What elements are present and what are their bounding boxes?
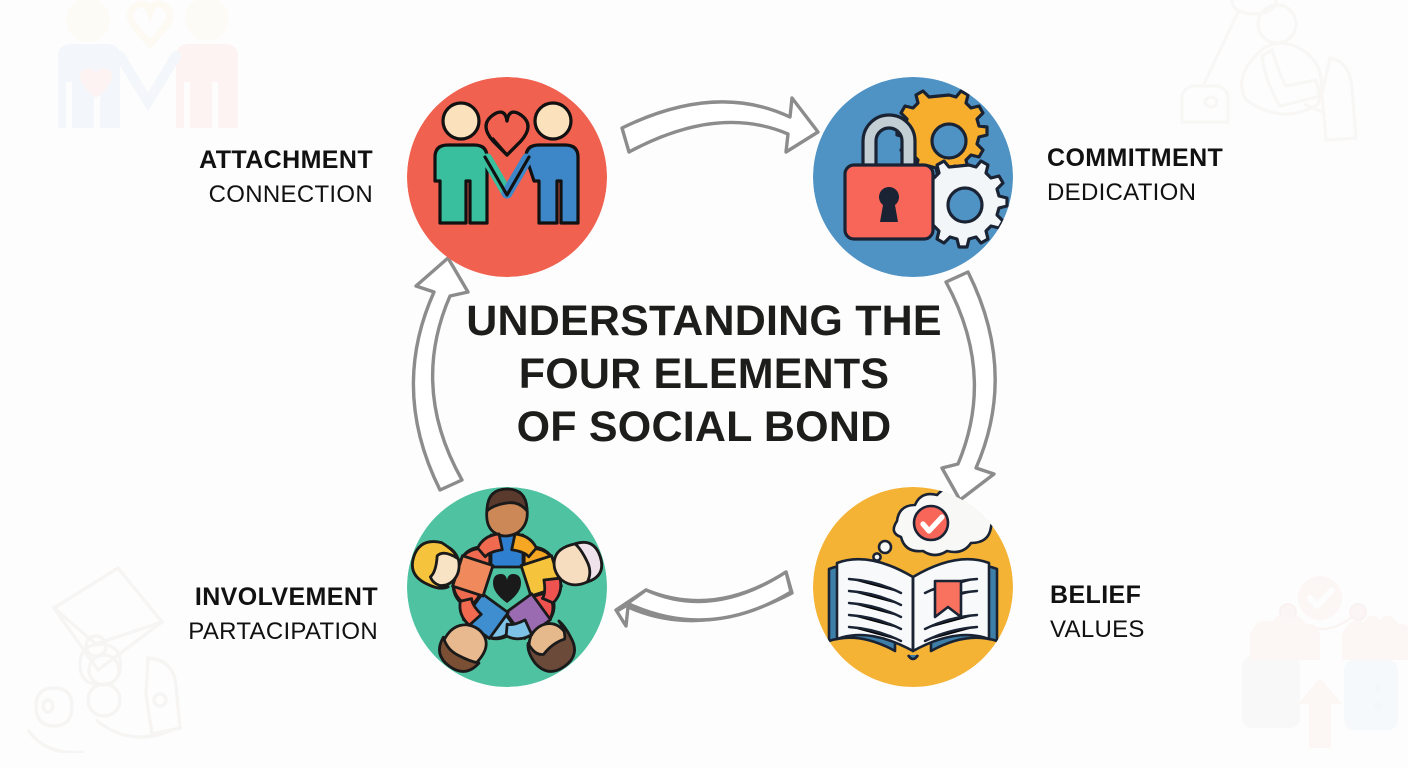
envelope-infinity-icon [28, 568, 180, 753]
watermark-bottom-left [18, 548, 218, 753]
two-people-check-arrow-icon [1242, 576, 1408, 748]
title-line-3: OF SOCIAL BOND [404, 401, 1004, 454]
title-line-2: FOUR ELEMENTS [404, 348, 1004, 401]
label-belief-subtitle: VALUES [1050, 618, 1145, 642]
label-attachment: ATTACHMENT CONNECTION [199, 148, 373, 207]
label-involvement: INVOLVEMENT PARTACIPATION [188, 585, 378, 644]
person-desk-lamp-icon [1182, 0, 1356, 140]
arrow-bottom-shape [617, 572, 791, 620]
title-line-1: UNDERSTANDING THE [404, 295, 1004, 348]
diagram-title: UNDERSTANDING THE FOUR ELEMENTS OF SOCIA… [404, 295, 1004, 454]
watermark-top-right [1178, 0, 1402, 150]
label-commitment: COMMITMENT DEDICATION [1047, 146, 1223, 205]
watermark-bottom-right [1232, 558, 1408, 770]
node-belief[interactable] [813, 487, 1013, 687]
label-belief-title: BELIEF [1050, 583, 1145, 608]
watermark-top-left [44, 0, 256, 144]
label-commitment-title: COMMITMENT [1047, 146, 1223, 171]
label-involvement-subtitle: PARTACIPATION [188, 620, 378, 644]
arrow-top-attachment-to-commitment [622, 98, 818, 152]
label-belief: BELIEF VALUES [1050, 583, 1145, 642]
label-involvement-title: INVOLVEMENT [188, 585, 378, 610]
arrow-bottom-belief-to-involvement [616, 572, 792, 626]
node-involvement[interactable] [407, 487, 607, 687]
node-commitment[interactable] [813, 77, 1013, 277]
label-attachment-title: ATTACHMENT [199, 148, 373, 173]
label-commitment-subtitle: DEDICATION [1047, 181, 1223, 205]
node-attachment[interactable] [407, 77, 607, 277]
label-attachment-subtitle: CONNECTION [199, 183, 373, 207]
diagram-canvas: ATTACHMENT CONNECTION COMMITMENT DEDICAT… [0, 0, 1408, 768]
two-people-holding-hands-icon [58, 0, 238, 128]
